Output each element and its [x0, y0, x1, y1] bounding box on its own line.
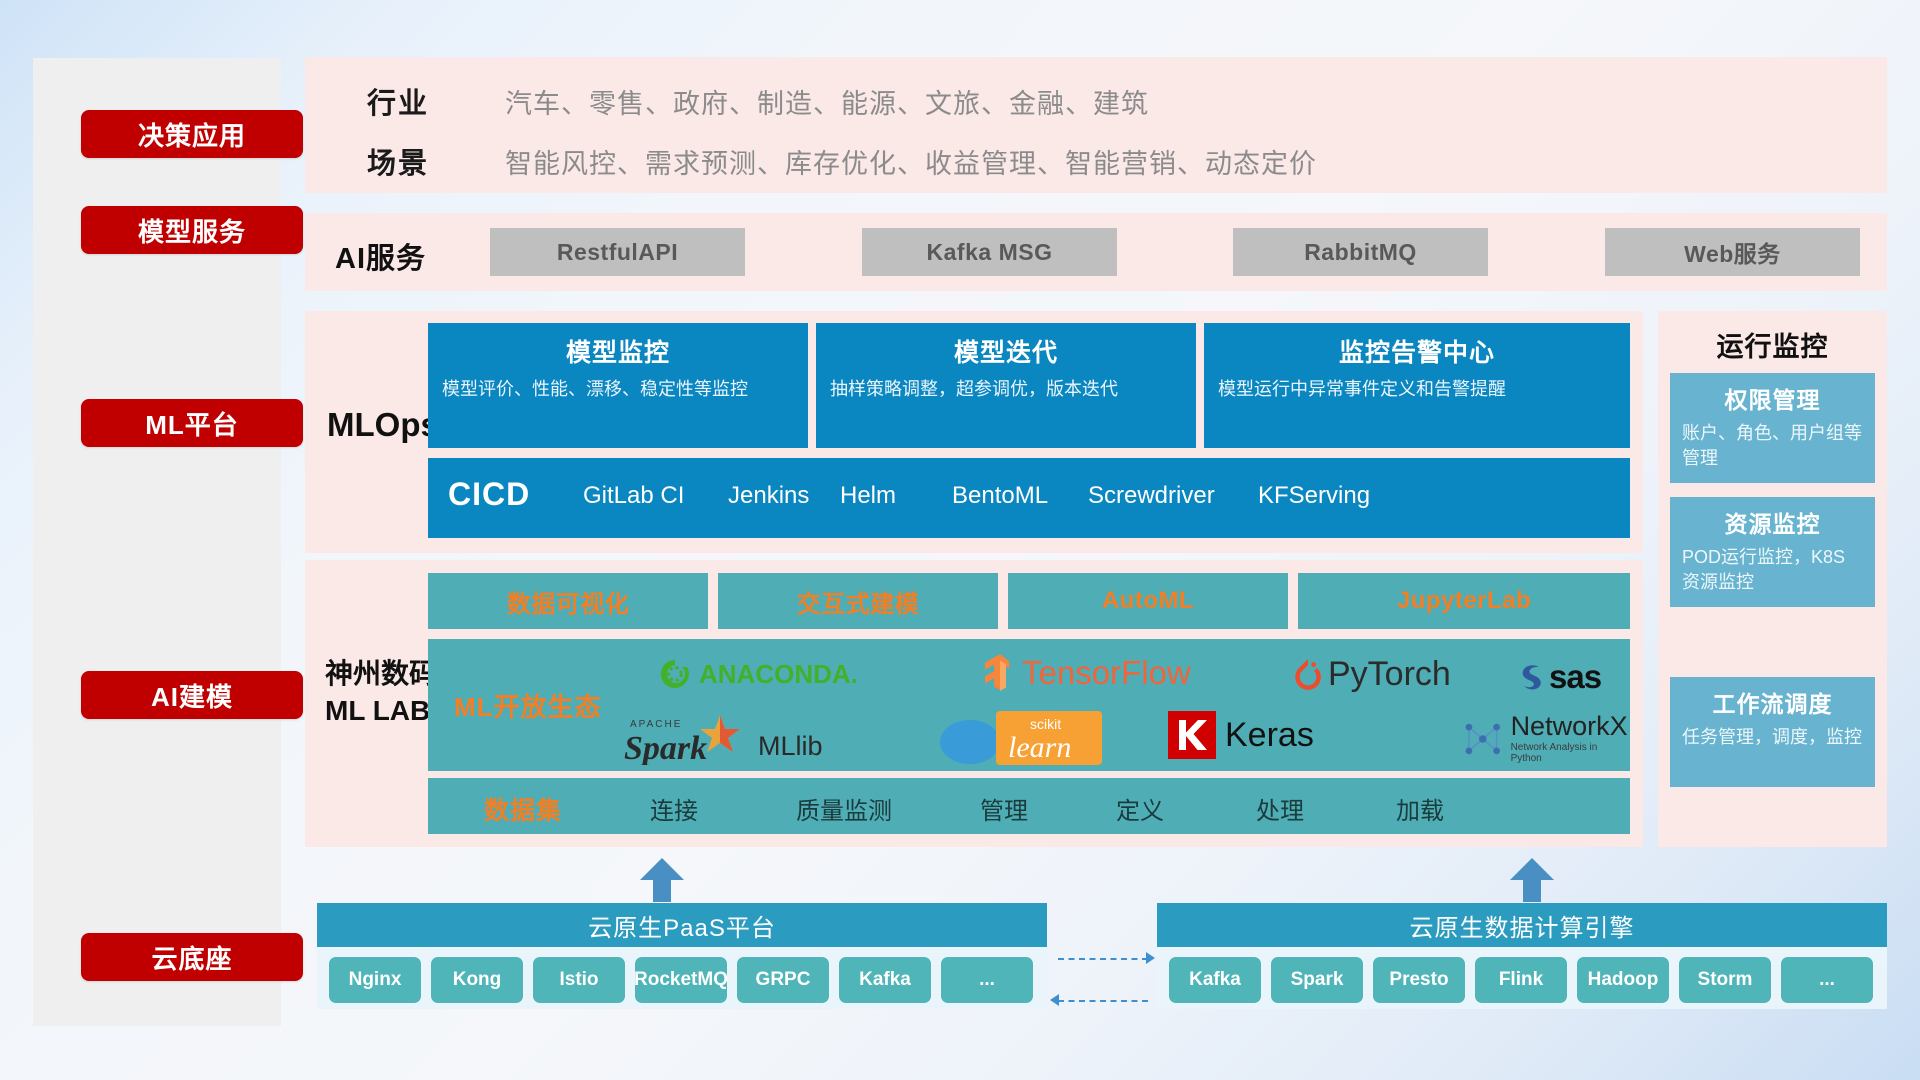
- dataset-label: 数据集: [484, 791, 562, 827]
- scenario-value: 智能风控、需求预测、库存优化、收益管理、智能营销、动态定价: [505, 142, 1317, 181]
- cloud-data-engine-body: Kafka Spark Presto Flink Hadoop Storm ..…: [1157, 947, 1887, 1009]
- ai-service-chip-web[interactable]: Web服务: [1605, 228, 1860, 276]
- monitor-card-resource[interactable]: 资源监控 POD运行监控，K8S资源监控: [1670, 497, 1875, 607]
- monitor-card-title: 权限管理: [1682, 381, 1863, 415]
- industry-value: 汽车、零售、政府、制造、能源、文旅、金融、建筑: [505, 82, 1149, 121]
- mlops-card-title: 模型迭代: [830, 333, 1182, 369]
- layer-rail: 决策应用 模型服务 ML平台 AI建模 云底座: [33, 58, 281, 1026]
- runtime-monitor-panel: 运行监控 权限管理 账户、角色、用户组等管理 资源监控 POD运行监控，K8S资…: [1658, 311, 1887, 847]
- mllib-wordmark: MLlib: [758, 731, 823, 762]
- mlops-card-title: 模型监控: [442, 333, 794, 369]
- business-band: 行业 汽车、零售、政府、制造、能源、文旅、金融、建筑 场景 智能风控、需求预测、…: [305, 57, 1887, 193]
- networkx-logo: NetworkX Network Analysis in Python: [1461, 713, 1630, 764]
- dataset-item-load[interactable]: 加载: [1396, 791, 1444, 826]
- monitor-card-title: 工作流调度: [1682, 685, 1863, 719]
- tensorflow-logo: TensorFlow: [983, 653, 1191, 693]
- cloud-data-engine-title: 云原生数据计算引擎: [1157, 903, 1887, 947]
- monitor-card-title: 资源监控: [1682, 505, 1863, 539]
- cicd-item-screwdriver[interactable]: Screwdriver: [1088, 482, 1206, 510]
- engine-chip-hadoop[interactable]: Hadoop: [1577, 957, 1669, 1003]
- cicd-title: CICD: [448, 476, 530, 513]
- cloud-chip-istio[interactable]: Istio: [533, 957, 625, 1003]
- svg-text:scikit: scikit: [1030, 716, 1061, 732]
- ml-ecosystem-label: ML开放生态: [454, 687, 602, 724]
- layer-button-decision[interactable]: 决策应用: [81, 110, 303, 158]
- ml-ecosystem-panel: ML开放生态 ANACONDA. TensorFlow: [428, 639, 1630, 771]
- ai-service-chip-kafka-msg[interactable]: Kafka MSG: [862, 228, 1117, 276]
- ai-service-chip-rabbitmq[interactable]: RabbitMQ: [1233, 228, 1488, 276]
- mlops-card-desc: 模型运行中异常事件定义和告警提醒: [1218, 377, 1616, 403]
- networkx-wordmark: NetworkX: [1511, 713, 1630, 740]
- pytorch-wordmark: PyTorch: [1328, 655, 1451, 694]
- industry-label: 行业: [367, 80, 429, 122]
- tensorflow-wordmark: TensorFlow: [1022, 654, 1191, 692]
- cloud-chip-rocketmq[interactable]: RocketMQ: [635, 957, 727, 1003]
- ai-modeling-band: 神州数码 ML LAB 数据可视化 交互式建模 AutoML JupyterLa…: [305, 560, 1643, 847]
- keras-logo: Keras: [1168, 711, 1314, 759]
- cloud-chip-kong[interactable]: Kong: [431, 957, 523, 1003]
- monitor-card-desc: POD运行监控，K8S资源监控: [1682, 545, 1863, 595]
- ml-lab-label-line2: ML LAB: [325, 695, 430, 726]
- cicd-item-helm[interactable]: Helm: [840, 482, 958, 510]
- engine-chip-storm[interactable]: Storm: [1679, 957, 1771, 1003]
- cicd-strip: CICD GitLab CI Jenkins Helm BentoML Scre…: [428, 458, 1630, 538]
- engine-chip-kafka[interactable]: Kafka: [1169, 957, 1261, 1003]
- cloud-chip-kafka[interactable]: Kafka: [839, 957, 931, 1003]
- cloud-chip-more[interactable]: ...: [941, 957, 1033, 1003]
- monitor-card-permission[interactable]: 权限管理 账户、角色、用户组等管理: [1670, 373, 1875, 483]
- cloud-chip-grpc[interactable]: GRPC: [737, 957, 829, 1003]
- dataset-item-manage[interactable]: 管理: [980, 791, 1028, 826]
- monitor-card-desc: 任务管理，调度，监控: [1682, 725, 1863, 750]
- mlops-card-alert-center[interactable]: 监控告警中心 模型运行中异常事件定义和告警提醒: [1204, 323, 1630, 448]
- mlops-label: MLOps: [327, 406, 439, 444]
- cloud-paas-body: Nginx Kong Istio RocketMQ GRPC Kafka ...: [317, 947, 1047, 1009]
- engine-chip-spark[interactable]: Spark: [1271, 957, 1363, 1003]
- cicd-item-kfserving[interactable]: KFServing: [1258, 482, 1376, 510]
- anaconda-logo: ANACONDA.: [658, 657, 858, 691]
- mlops-card-title: 监控告警中心: [1218, 333, 1616, 369]
- monitor-card-workflow[interactable]: 工作流调度 任务管理，调度，监控: [1670, 677, 1875, 787]
- layer-button-ai-modeling[interactable]: AI建模: [81, 671, 303, 719]
- layer-button-model-service[interactable]: 模型服务: [81, 206, 303, 254]
- runtime-monitor-title: 运行监控: [1658, 325, 1887, 364]
- tool-chip-jupyterlab[interactable]: JupyterLab: [1298, 573, 1630, 629]
- engine-chip-more[interactable]: ...: [1781, 957, 1873, 1003]
- cicd-item-jenkins[interactable]: Jenkins: [728, 482, 846, 510]
- cicd-item-gitlab-ci[interactable]: GitLab CI: [583, 482, 701, 510]
- layer-button-cloud-base[interactable]: 云底座: [81, 933, 303, 981]
- dataset-item-connect[interactable]: 连接: [650, 791, 698, 826]
- tool-chip-interactive-modeling[interactable]: 交互式建模: [718, 573, 998, 629]
- svg-text:learn: learn: [1008, 731, 1071, 764]
- layer-button-ml-platform[interactable]: ML平台: [81, 399, 303, 447]
- engine-chip-flink[interactable]: Flink: [1475, 957, 1567, 1003]
- scikit-learn-logo: scikit learn: [938, 709, 1113, 767]
- architecture-diagram: 决策应用 模型服务 ML平台 AI建模 云底座 行业 汽车、零售、政府、制造、能…: [0, 0, 1920, 1080]
- ml-lab-label-line1: 神州数码: [325, 658, 437, 689]
- dataset-item-quality[interactable]: 质量监测: [796, 791, 892, 826]
- cloud-paas-block: 云原生PaaS平台 Nginx Kong Istio RocketMQ GRPC…: [317, 903, 1047, 1009]
- dataset-item-define[interactable]: 定义: [1116, 791, 1164, 826]
- tool-chip-data-visualization[interactable]: 数据可视化: [428, 573, 708, 629]
- tool-chip-automl[interactable]: AutoML: [1008, 573, 1288, 629]
- svg-text:APACHE: APACHE: [630, 719, 682, 730]
- cicd-item-bentoml[interactable]: BentoML: [952, 482, 1070, 510]
- scenario-label: 场景: [367, 140, 429, 182]
- engine-chip-presto[interactable]: Presto: [1373, 957, 1465, 1003]
- anaconda-wordmark: ANACONDA.: [699, 659, 858, 690]
- mlops-card-model-iteration[interactable]: 模型迭代 抽样策略调整，超参调优，版本迭代: [816, 323, 1196, 448]
- mlops-band: MLOps 模型监控 模型评价、性能、漂移、稳定性等监控 模型迭代 抽样策略调整…: [305, 311, 1643, 553]
- cloud-data-engine-block: 云原生数据计算引擎 Kafka Spark Presto Flink Hadoo…: [1157, 903, 1887, 1009]
- pytorch-logo: PyTorch: [1293, 655, 1451, 694]
- ai-service-band: AI服务 RestfulAPI Kafka MSG RabbitMQ Web服务: [305, 213, 1887, 291]
- cloud-chip-nginx[interactable]: Nginx: [329, 957, 421, 1003]
- ml-lab-label: 神州数码 ML LAB: [325, 656, 437, 730]
- mlops-card-model-monitoring[interactable]: 模型监控 模型评价、性能、漂移、稳定性等监控: [428, 323, 808, 448]
- dataset-strip: 数据集 连接 质量监测 管理 定义 处理 加载: [428, 778, 1630, 834]
- mlops-card-desc: 模型评价、性能、漂移、稳定性等监控: [442, 377, 794, 403]
- sas-logo: sas: [1515, 658, 1601, 696]
- mlops-card-desc: 抽样策略调整，超参调优，版本迭代: [830, 377, 1182, 403]
- keras-wordmark: Keras: [1225, 716, 1314, 755]
- dataset-item-process[interactable]: 处理: [1256, 791, 1304, 826]
- ai-service-chip-restfulapi[interactable]: RestfulAPI: [490, 228, 745, 276]
- spark-mllib-logo: APACHE Spark MLlib: [624, 711, 823, 765]
- sas-wordmark: sas: [1549, 658, 1601, 696]
- networkx-tagline: Network Analysis in Python: [1511, 742, 1630, 764]
- svg-text:Spark: Spark: [624, 730, 707, 765]
- monitor-card-desc: 账户、角色、用户组等管理: [1682, 421, 1863, 471]
- cloud-paas-title: 云原生PaaS平台: [317, 903, 1047, 947]
- ai-service-label: AI服务: [335, 235, 426, 277]
